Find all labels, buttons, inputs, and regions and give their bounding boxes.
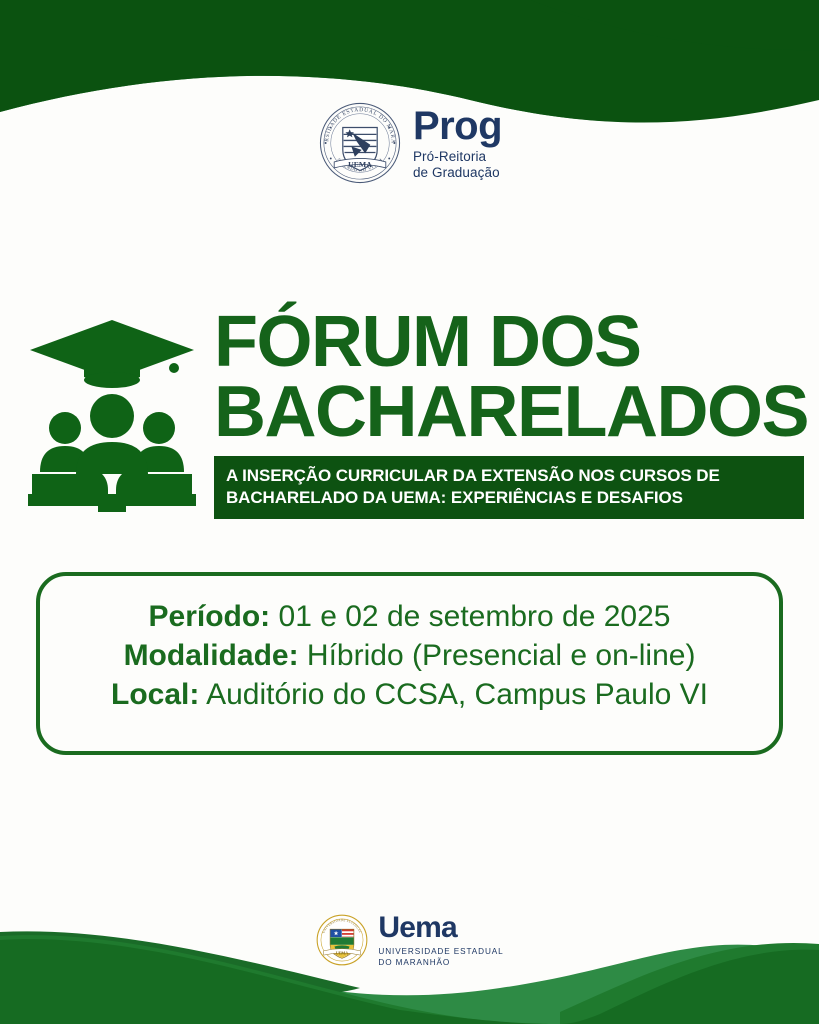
detail-label-local: Local: [111, 678, 199, 711]
detail-row-periodo: Período: 01 e 02 de setembro de 2025 [149, 597, 671, 636]
hero-title-line1: FÓRUM DOS [214, 308, 814, 376]
uema-subtitle-line2: DO MARANHÃO [378, 957, 503, 968]
hero-subtitle-banner: A INSERÇÃO CURRICULAR DA EXTENSÃO NOS CU… [214, 456, 804, 519]
detail-row-local: Local: Auditório do CCSA, Campus Paulo V… [111, 675, 708, 714]
hero-section: FÓRUM DOS BACHARELADOS A INSERÇÃO CURRIC… [0, 296, 819, 526]
hero-subtitle-line1: A INSERÇÃO CURRICULAR DA EXTENSÃO NOS CU… [226, 465, 794, 487]
uema-subtitle-line1: UNIVERSIDADE ESTADUAL [378, 946, 503, 957]
uema-seal-icon: UNIVERSIDADE ESTADUAL DO MARANHÃO SCIEND… [317, 100, 403, 186]
prog-title: Prog [413, 107, 502, 145]
prog-subtitle-line1: Pró-Reitoria [413, 149, 502, 165]
detail-row-modalidade: Modalidade: Híbrido (Presencial e on-lin… [124, 636, 696, 675]
detail-label-periodo: Período: [149, 600, 271, 633]
uema-title: Uema [378, 913, 503, 943]
hero-subtitle-line2: BACHARELADO DA UEMA: EXPERIÊNCIAS E DESA… [226, 487, 794, 509]
prog-subtitle-line2: de Graduação [413, 165, 502, 181]
poster-canvas: UNIVERSIDADE ESTADUAL DO MARANHÃO SCIEND… [0, 0, 819, 1024]
graduation-cap-students-book-icon [22, 304, 202, 514]
hero-title-line2: BACHARELADOS [214, 378, 814, 446]
detail-label-modalidade: Modalidade: [124, 639, 299, 672]
svg-text:UEMA: UEMA [348, 160, 372, 169]
uema-colored-seal-icon: UNIVERSIDADE ESTADUAL DO MARANHÃO UEMA [315, 913, 369, 967]
detail-value-modalidade: Híbrido (Presencial e on-line) [307, 639, 696, 672]
uema-wordmark: Uema UNIVERSIDADE ESTADUAL DO MARANHÃO [378, 912, 503, 968]
svg-text:UEMA: UEMA [336, 951, 349, 956]
prog-header-logo: UNIVERSIDADE ESTADUAL DO MARANHÃO SCIEND… [0, 100, 819, 186]
detail-value-periodo: 01 e 02 de setembro de 2025 [279, 600, 671, 633]
uema-footer-logo: UNIVERSIDADE ESTADUAL DO MARANHÃO UEMA U… [0, 912, 819, 968]
hero-title: FÓRUM DOS BACHARELADOS [214, 308, 814, 447]
prog-wordmark: Prog Pró-Reitoria de Graduação [413, 105, 502, 181]
detail-value-local: Auditório do CCSA, Campus Paulo VI [206, 678, 708, 711]
event-details-box: Período: 01 e 02 de setembro de 2025 Mod… [36, 572, 783, 755]
